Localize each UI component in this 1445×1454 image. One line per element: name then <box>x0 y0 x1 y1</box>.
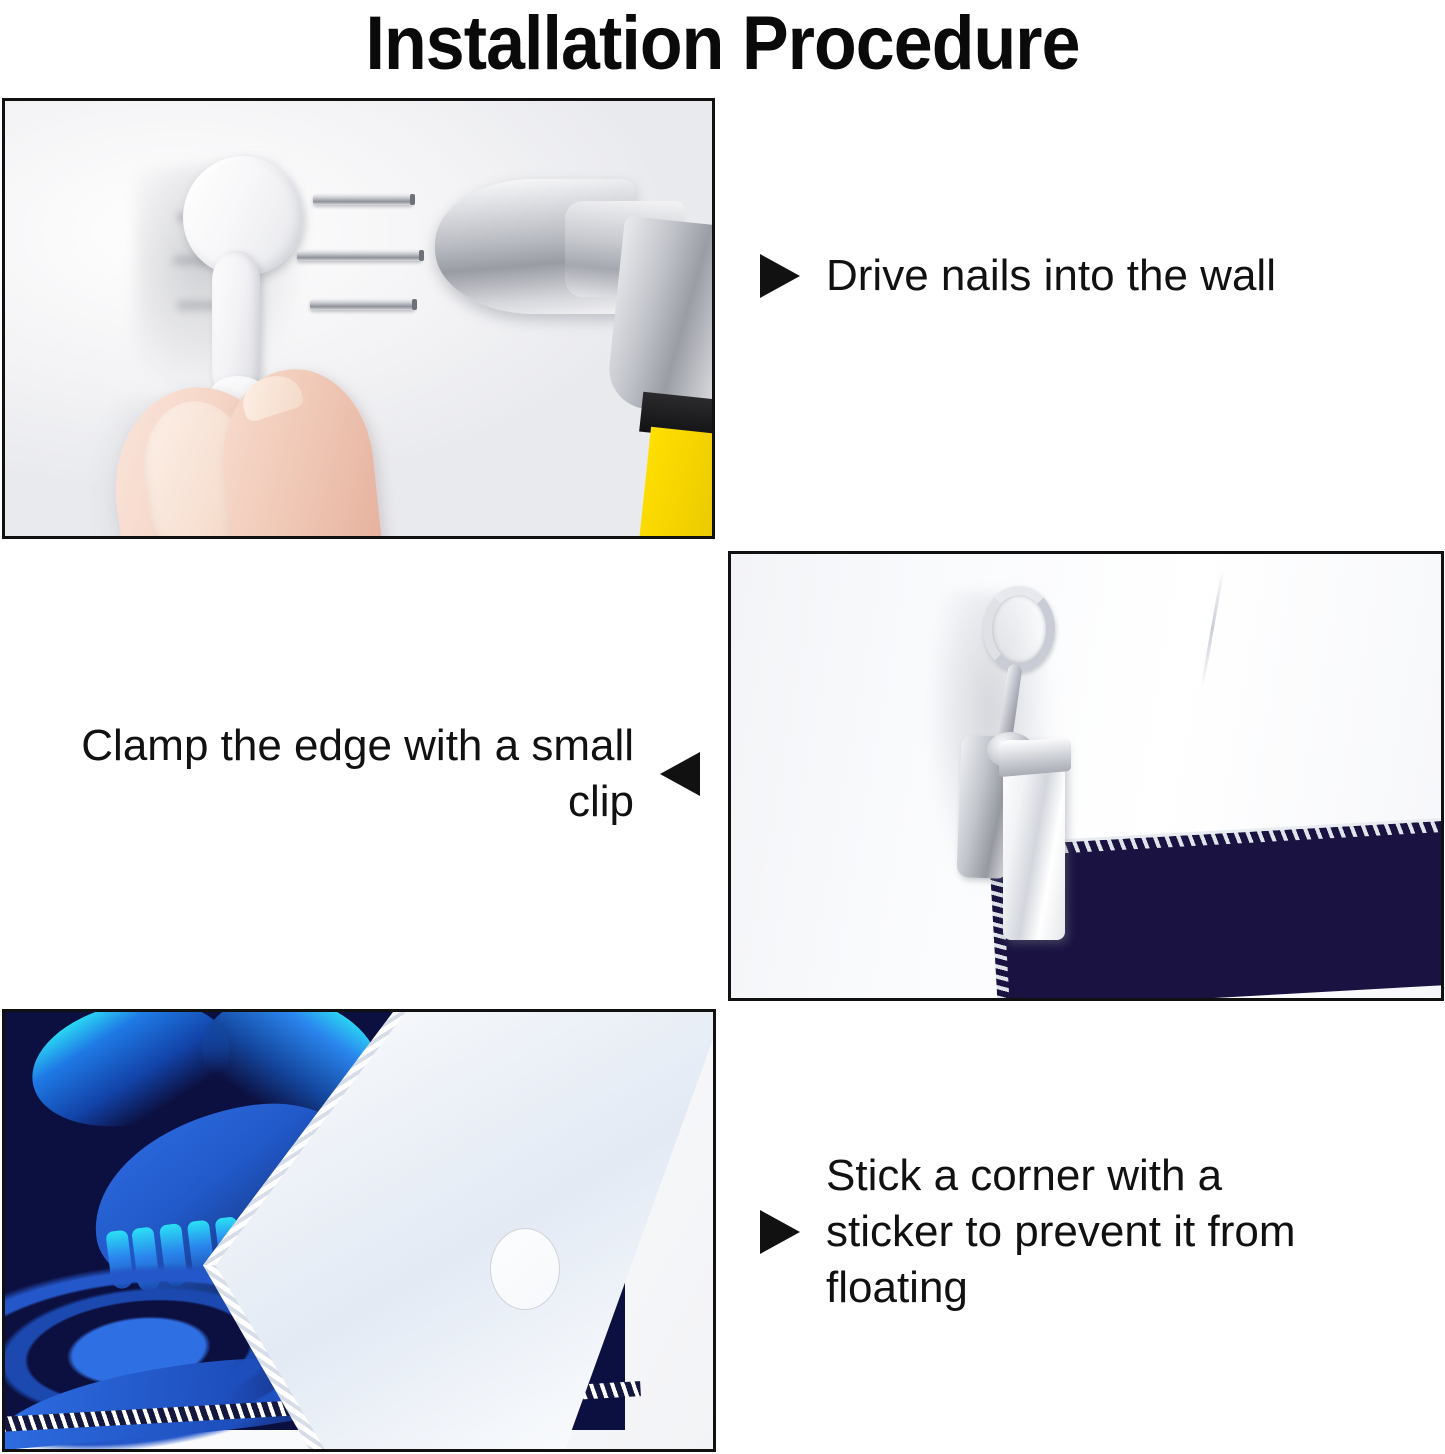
step-3-caption-text: Stick a corner with a sticker to prevent… <box>826 1148 1360 1316</box>
nail <box>297 250 422 261</box>
triangle-right-icon <box>760 1210 800 1254</box>
triangle-right-icon <box>760 254 800 298</box>
photo-drive-nails <box>2 98 715 539</box>
photo-clamp-edge-content <box>731 554 1441 998</box>
clip-front-lip <box>999 737 1071 777</box>
page-title: Installation Procedure <box>58 2 1387 86</box>
photo-clamp-edge <box>728 551 1444 1001</box>
nail <box>310 299 415 310</box>
photo-stick-corner <box>2 1009 716 1452</box>
adhesive-sticker <box>490 1228 560 1310</box>
step-3-caption: Stick a corner with a sticker to prevent… <box>760 1148 1360 1316</box>
step-2-caption-text: Clamp the edge with a small clip <box>60 718 634 830</box>
triangle-left-icon <box>660 752 700 796</box>
installation-procedure-page: Installation Procedure <box>0 0 1445 1454</box>
step-2-caption: Clamp the edge with a small clip <box>60 718 700 830</box>
hammer-claw <box>605 216 715 417</box>
step-1-caption: Drive nails into the wall <box>760 248 1320 304</box>
nail <box>313 194 413 205</box>
hammer-grip <box>639 427 715 539</box>
clip-hanging-ring <box>983 586 1055 672</box>
step-1-caption-text: Drive nails into the wall <box>826 248 1276 304</box>
photo-drive-nails-content <box>5 101 712 536</box>
photo-stick-corner-content <box>5 1012 713 1449</box>
